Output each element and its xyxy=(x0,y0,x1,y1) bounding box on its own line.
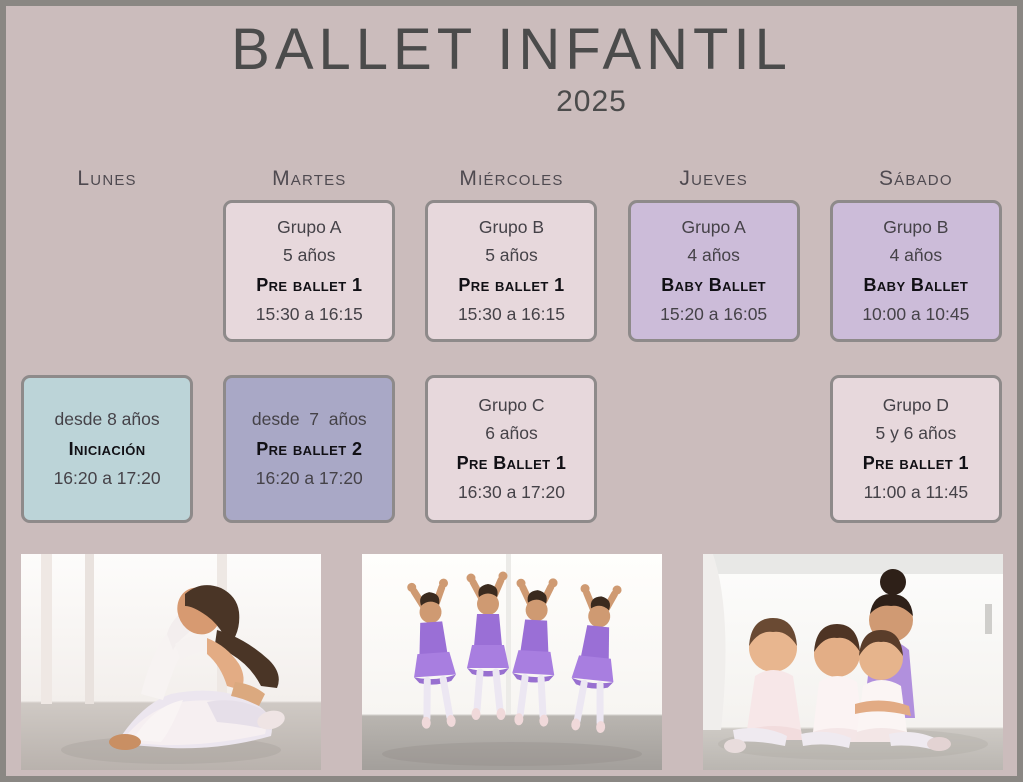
slot-miercoles-2: Grupo C 6 años Pre Ballet 1 16:30 a 17:2… xyxy=(410,375,612,547)
card-time: 16:30 a 17:20 xyxy=(458,484,565,502)
day-label: Jueves xyxy=(679,158,748,200)
card-slot: Grupo B 5 años Pre ballet 1 15:30 a 16:1… xyxy=(410,200,612,375)
card-age: 4 años xyxy=(687,247,740,265)
card-slot: Grupo D 5 y 6 años Pre ballet 1 11:00 a … xyxy=(815,375,1017,547)
card-slot xyxy=(613,375,815,547)
class-card[interactable]: desde 8 años Iniciación 16:20 a 17:20 xyxy=(21,375,193,523)
card-time: 15:30 a 16:15 xyxy=(458,306,565,324)
day-column-miercoles: Miércoles xyxy=(410,158,612,200)
day-header-row: Lunes Martes Miércoles Jueves Sábado xyxy=(6,158,1017,200)
photo-girl-stretching xyxy=(21,554,321,770)
card-slot: Grupo A 4 años Baby Ballet 15:20 a 16:05 xyxy=(613,200,815,375)
card-time: 15:20 a 16:05 xyxy=(660,306,767,324)
card-time: 10:00 a 10:45 xyxy=(862,306,969,324)
schedule-grid: Lunes Martes Miércoles Jueves Sábado xyxy=(6,158,1017,547)
poster-header: BALLET INFANTIL 2025 xyxy=(6,6,1017,119)
slot-martes-1: Grupo A 5 años Pre ballet 1 15:30 a 16:1… xyxy=(208,200,410,375)
card-group: Grupo B xyxy=(883,219,948,237)
schedule-row-1: Grupo A 5 años Pre ballet 1 15:30 a 16:1… xyxy=(6,200,1017,375)
slot-martes-2: desde 7 años Pre ballet 2 16:20 a 17:20 xyxy=(208,375,410,547)
card-slot: Grupo A 5 años Pre ballet 1 15:30 a 16:1… xyxy=(208,200,410,375)
card-slot: Grupo C 6 años Pre Ballet 1 16:30 a 17:2… xyxy=(410,375,612,547)
class-card[interactable]: Grupo B 5 años Pre ballet 1 15:30 a 16:1… xyxy=(425,200,597,342)
card-slot xyxy=(6,200,208,375)
slot-jueves-1: Grupo A 4 años Baby Ballet 15:20 a 16:05 xyxy=(613,200,815,375)
card-time: 15:30 a 16:15 xyxy=(256,306,363,324)
card-class-name: Pre ballet 1 xyxy=(863,454,969,472)
year-label: 2025 xyxy=(556,85,627,118)
card-time: 16:20 a 17:20 xyxy=(256,470,363,488)
class-card[interactable]: Grupo C 6 años Pre Ballet 1 16:30 a 17:2… xyxy=(425,375,597,523)
day-label: Martes xyxy=(272,158,346,200)
page-title: BALLET INFANTIL xyxy=(6,20,1017,81)
card-age: 4 años xyxy=(890,247,943,265)
class-card[interactable]: desde 7 años Pre ballet 2 16:20 a 17:20 xyxy=(223,375,395,523)
slot-sabado-1: Grupo B 4 años Baby Ballet 10:00 a 10:45 xyxy=(815,200,1017,375)
card-slot: Grupo B 4 años Baby Ballet 10:00 a 10:45 xyxy=(815,200,1017,375)
card-age: 5 años xyxy=(485,247,538,265)
photo-strip xyxy=(6,554,1017,776)
card-group: Grupo A xyxy=(277,219,341,237)
card-class-name: Baby Ballet xyxy=(661,276,766,294)
card-group: Grupo B xyxy=(479,219,544,237)
card-class-name: Pre ballet 1 xyxy=(256,276,362,294)
slot-sabado-2: Grupo D 5 y 6 años Pre ballet 1 11:00 a … xyxy=(815,375,1017,547)
card-class-name: Pre ballet 2 xyxy=(256,440,362,458)
poster: BALLET INFANTIL 2025 Lunes Martes Miérco… xyxy=(6,6,1017,776)
slot-miercoles-1: Grupo B 5 años Pre ballet 1 15:30 a 16:1… xyxy=(410,200,612,375)
day-column-jueves: Jueves xyxy=(613,158,815,200)
card-class-name: Iniciación xyxy=(69,440,146,458)
card-age: desde 8 años xyxy=(55,411,160,429)
day-label: Miércoles xyxy=(459,158,563,200)
day-label: Sábado xyxy=(879,158,953,200)
day-column-martes: Martes xyxy=(208,158,410,200)
card-class-name: Pre ballet 1 xyxy=(458,276,564,294)
card-group: Grupo A xyxy=(682,219,746,237)
card-age: 6 años xyxy=(485,425,538,443)
day-column-lunes: Lunes xyxy=(6,158,208,200)
day-label: Lunes xyxy=(77,158,136,200)
card-class-name: Pre Ballet 1 xyxy=(457,454,567,472)
class-card[interactable]: Grupo B 4 años Baby Ballet 10:00 a 10:45 xyxy=(830,200,1002,342)
slot-jueves-2 xyxy=(613,375,815,547)
year-row: 2025 xyxy=(6,85,1017,119)
card-group: Grupo C xyxy=(478,397,544,415)
day-column-sabado: Sábado xyxy=(815,158,1017,200)
photo-girls-jumping xyxy=(362,554,662,770)
card-group: Grupo D xyxy=(883,397,949,415)
class-card[interactable]: Grupo A 4 años Baby Ballet 15:20 a 16:05 xyxy=(628,200,800,342)
slot-lunes-1 xyxy=(6,200,208,375)
class-card[interactable]: Grupo D 5 y 6 años Pre ballet 1 11:00 a … xyxy=(830,375,1002,523)
schedule-row-2: desde 8 años Iniciación 16:20 a 17:20 de… xyxy=(6,375,1017,547)
card-time: 16:20 a 17:20 xyxy=(54,470,161,488)
class-card[interactable]: Grupo A 5 años Pre ballet 1 15:30 a 16:1… xyxy=(223,200,395,342)
slot-lunes-2: desde 8 años Iniciación 16:20 a 17:20 xyxy=(6,375,208,547)
photo-group-sitting xyxy=(703,554,1003,770)
card-slot: desde 8 años Iniciación 16:20 a 17:20 xyxy=(6,375,208,547)
card-age: 5 y 6 años xyxy=(875,425,956,443)
card-age: 5 años xyxy=(283,247,336,265)
card-age: desde 7 años xyxy=(252,411,367,429)
card-slot: desde 7 años Pre ballet 2 16:20 a 17:20 xyxy=(208,375,410,547)
card-class-name: Baby Ballet xyxy=(863,276,968,294)
card-time: 11:00 a 11:45 xyxy=(864,484,968,502)
